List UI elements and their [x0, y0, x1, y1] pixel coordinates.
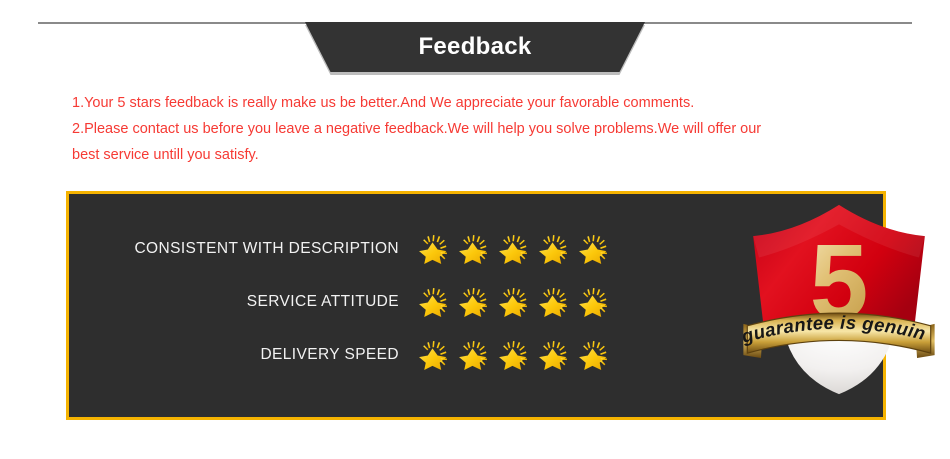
rating-panel: CONSISTENT WITH DESCRIPTION SERVICE ATTI…: [66, 191, 886, 420]
notice-line-1: 1.Your 5 stars feedback is really make u…: [72, 90, 882, 116]
star-icon: [417, 232, 450, 265]
star-icon: [537, 232, 570, 265]
rating-label: CONSISTENT WITH DESCRIPTION: [69, 240, 417, 258]
star-icon: [417, 338, 450, 371]
feedback-banner: Feedback: [305, 22, 645, 72]
star-icon: [497, 338, 530, 371]
star-icon: [577, 285, 610, 318]
star-icon: [457, 285, 490, 318]
rating-label: SERVICE ATTITUDE: [69, 293, 417, 311]
star-icon: [537, 338, 570, 371]
star-icon: [497, 232, 530, 265]
feedback-notice: 1.Your 5 stars feedback is really make u…: [72, 90, 882, 168]
star-icon: [457, 338, 490, 371]
notice-line-3: best service untill you satisfy.: [72, 142, 882, 168]
star-icon: [457, 232, 490, 265]
rating-stars-delivery-speed: [417, 338, 610, 371]
rating-row-consistent-with-description: CONSISTENT WITH DESCRIPTION: [69, 224, 639, 273]
rating-rows: CONSISTENT WITH DESCRIPTION SERVICE ATTI…: [69, 224, 639, 383]
star-icon: [577, 232, 610, 265]
rating-stars-consistent-with-description: [417, 232, 610, 265]
rating-label: DELIVERY SPEED: [69, 346, 417, 364]
page-header: Feedback: [0, 0, 950, 80]
rating-stars-service-attitude: [417, 285, 610, 318]
rating-row-delivery-speed: DELIVERY SPEED: [69, 330, 639, 379]
rating-row-service-attitude: SERVICE ATTITUDE: [69, 277, 639, 326]
page-title: Feedback: [418, 33, 531, 61]
star-icon: [577, 338, 610, 371]
notice-line-2: 2.Please contact us before you leave a n…: [72, 116, 882, 142]
star-icon: [537, 285, 570, 318]
star-icon: [497, 285, 530, 318]
guarantee-shield-badge: 5 guarantee is genuine: [741, 199, 937, 399]
star-icon: [417, 285, 450, 318]
